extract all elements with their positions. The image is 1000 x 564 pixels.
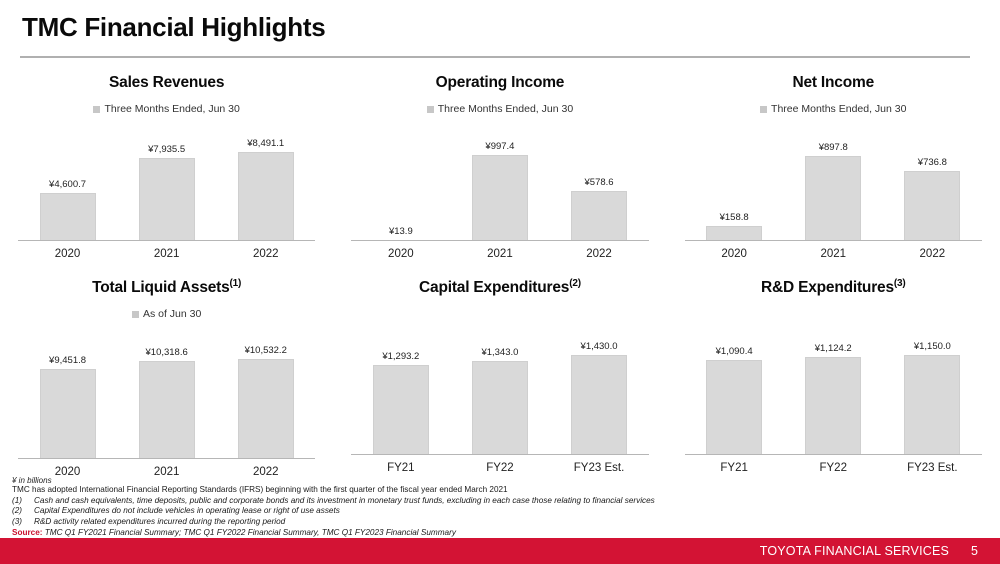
bar-group: ¥1,124.2 bbox=[789, 324, 878, 455]
bar-group: ¥997.4 bbox=[455, 123, 544, 241]
chart-title-text: Sales Revenues bbox=[109, 74, 224, 91]
chart-axis-line bbox=[685, 240, 982, 242]
chart-category-labels: FY21FY22FY23 Est. bbox=[351, 462, 648, 474]
legend-swatch-icon bbox=[760, 106, 767, 113]
legend-label: Three Months Ended, Jun 30 bbox=[771, 103, 906, 115]
footnotes: TMC has adopted International Financial … bbox=[12, 485, 972, 538]
bar bbox=[472, 361, 528, 455]
bar-group: ¥9,451.8 bbox=[23, 328, 112, 459]
footnote-2: (2)Capital Expenditures do not include v… bbox=[12, 506, 972, 517]
bar bbox=[904, 355, 960, 455]
bar bbox=[373, 365, 429, 455]
legend-swatch-icon bbox=[427, 106, 434, 113]
chart-legend-spacer bbox=[351, 297, 648, 316]
bar-group: ¥13.9 bbox=[356, 123, 445, 241]
chart-plot-sales-revenues: ¥4,600.7¥7,935.5¥8,491.1 bbox=[18, 123, 315, 241]
chart-axis-line bbox=[351, 240, 648, 242]
bar-value-label: ¥8,491.1 bbox=[247, 138, 284, 149]
bar-group: ¥7,935.5 bbox=[122, 123, 211, 241]
bar bbox=[571, 355, 627, 455]
bar-value-label: ¥736.8 bbox=[918, 157, 947, 168]
bar-group: ¥10,318.6 bbox=[122, 328, 211, 459]
chart-axis-line bbox=[351, 454, 648, 456]
bar-value-label: ¥578.6 bbox=[585, 177, 614, 188]
chart-bars: ¥9,451.8¥10,318.6¥10,532.2 bbox=[18, 328, 315, 459]
bar-value-label: ¥10,318.6 bbox=[146, 347, 188, 358]
chart-axis-line bbox=[18, 240, 315, 242]
chart-title-text: Capital Expenditures bbox=[419, 279, 569, 296]
bar bbox=[706, 360, 762, 455]
chart-row-bottom: Total Liquid Assets(1)As of Jun 30¥9,451… bbox=[0, 278, 1000, 478]
chart-legend-sales-revenues: Three Months Ended, Jun 30 bbox=[18, 103, 315, 115]
chart-plot-r-d-expenditures: ¥1,090.4¥1,124.2¥1,150.0 bbox=[685, 324, 982, 455]
source-line: Source: TMC Q1 FY2021 Financial Summary;… bbox=[12, 528, 972, 539]
page-title: TMC Financial Highlights bbox=[22, 12, 325, 43]
footer-brand: TOYOTA FINANCIAL SERVICES bbox=[760, 544, 949, 558]
bar-value-label: ¥1,090.4 bbox=[716, 346, 753, 357]
chart-title-text: Operating Income bbox=[436, 74, 565, 91]
footnote-1: (1)Cash and cash equivalents, time depos… bbox=[12, 496, 972, 507]
category-label: 2021 bbox=[122, 248, 211, 260]
bar-value-label: ¥13.9 bbox=[389, 226, 413, 237]
bar-value-label: ¥10,532.2 bbox=[245, 345, 287, 356]
chart-panel-net-income: Net IncomeThree Months Ended, Jun 30¥158… bbox=[667, 74, 1000, 278]
bar bbox=[238, 359, 294, 459]
category-label: FY23 Est. bbox=[554, 462, 643, 474]
chart-plot-total-liquid-assets: ¥9,451.8¥10,318.6¥10,532.2 bbox=[18, 328, 315, 459]
bar-group: ¥1,150.0 bbox=[888, 324, 977, 455]
bar bbox=[139, 361, 195, 459]
bar bbox=[40, 369, 96, 459]
bar-group: ¥578.6 bbox=[554, 123, 643, 241]
header-divider bbox=[20, 56, 970, 58]
legend-swatch-icon bbox=[93, 106, 100, 113]
bar-value-label: ¥997.4 bbox=[485, 141, 514, 152]
bar bbox=[805, 156, 861, 241]
chart-legend-operating-income: Three Months Ended, Jun 30 bbox=[351, 103, 648, 115]
chart-row-top: Sales RevenuesThree Months Ended, Jun 30… bbox=[0, 74, 1000, 278]
bar bbox=[238, 152, 294, 241]
bar-value-label: ¥9,451.8 bbox=[49, 355, 86, 366]
bar bbox=[40, 193, 96, 241]
chart-title-text: Net Income bbox=[792, 74, 874, 91]
bar-group: ¥897.8 bbox=[789, 123, 878, 241]
chart-legend-spacer bbox=[685, 297, 982, 316]
footnote-3-text: R&D activity related expenditures incurr… bbox=[34, 517, 285, 526]
chart-axis-line bbox=[18, 458, 315, 460]
category-label: 2021 bbox=[122, 466, 211, 478]
footnote-2-text: Capital Expenditures do not include vehi… bbox=[34, 506, 340, 515]
category-label: FY21 bbox=[356, 462, 445, 474]
chart-category-labels: 202020212022 bbox=[685, 248, 982, 260]
category-label: 2021 bbox=[455, 248, 544, 260]
legend-label: As of Jun 30 bbox=[143, 308, 201, 320]
footnote-1-marker: (1) bbox=[12, 496, 34, 507]
bar-group: ¥10,532.2 bbox=[221, 328, 310, 459]
bar-value-label: ¥897.8 bbox=[819, 142, 848, 153]
chart-category-labels: 202020212022 bbox=[18, 466, 315, 478]
category-label: 2022 bbox=[221, 248, 310, 260]
bar-group: ¥1,430.0 bbox=[554, 324, 643, 455]
footer-bar: TOYOTA FINANCIAL SERVICES 5 bbox=[0, 538, 1000, 564]
chart-axis-line bbox=[685, 454, 982, 456]
bar-group: ¥4,600.7 bbox=[23, 123, 112, 241]
footnote-1-text: Cash and cash equivalents, time deposits… bbox=[34, 496, 655, 505]
bar-value-label: ¥4,600.7 bbox=[49, 179, 86, 190]
chart-panel-sales-revenues: Sales RevenuesThree Months Ended, Jun 30… bbox=[0, 74, 333, 278]
chart-panel-capital-expenditures: Capital Expenditures(2)¥1,293.2¥1,343.0¥… bbox=[333, 278, 666, 478]
chart-plot-operating-income: ¥13.9¥997.4¥578.6 bbox=[351, 123, 648, 241]
bar-value-label: ¥1,343.0 bbox=[481, 347, 518, 358]
chart-title-footnote-marker: (3) bbox=[894, 278, 906, 289]
bar bbox=[472, 155, 528, 241]
chart-legend-total-liquid-assets: As of Jun 30 bbox=[18, 308, 315, 320]
footnote-2-marker: (2) bbox=[12, 506, 34, 517]
bar-value-label: ¥1,293.2 bbox=[382, 351, 419, 362]
category-label: 2021 bbox=[789, 248, 878, 260]
category-label: 2022 bbox=[888, 248, 977, 260]
bar-group: ¥1,293.2 bbox=[356, 324, 445, 455]
category-label: 2022 bbox=[221, 466, 310, 478]
category-label: FY21 bbox=[690, 462, 779, 474]
chart-plot-capital-expenditures: ¥1,293.2¥1,343.0¥1,430.0 bbox=[351, 324, 648, 455]
category-label: 2020 bbox=[690, 248, 779, 260]
chart-title-net-income: Net Income bbox=[685, 74, 982, 92]
chart-title-capital-expenditures: Capital Expenditures(2) bbox=[351, 278, 648, 297]
legend-label: Three Months Ended, Jun 30 bbox=[438, 103, 573, 115]
bar bbox=[805, 357, 861, 455]
chart-bars: ¥1,090.4¥1,124.2¥1,150.0 bbox=[685, 324, 982, 455]
bar-value-label: ¥1,150.0 bbox=[914, 341, 951, 352]
chart-category-labels: FY21FY22FY23 Est. bbox=[685, 462, 982, 474]
chart-title-total-liquid-assets: Total Liquid Assets(1) bbox=[18, 278, 315, 297]
bar-value-label: ¥7,935.5 bbox=[148, 144, 185, 155]
chart-title-footnote-marker: (2) bbox=[569, 278, 581, 289]
bar bbox=[571, 191, 627, 241]
bar-group: ¥1,343.0 bbox=[455, 324, 544, 455]
category-label: 2020 bbox=[23, 248, 112, 260]
chart-panel-operating-income: Operating IncomeThree Months Ended, Jun … bbox=[333, 74, 666, 278]
category-label: FY22 bbox=[789, 462, 878, 474]
category-label: FY23 Est. bbox=[888, 462, 977, 474]
chart-title-sales-revenues: Sales Revenues bbox=[18, 74, 315, 92]
chart-bars: ¥1,293.2¥1,343.0¥1,430.0 bbox=[351, 324, 648, 455]
units-note: ¥ in billions bbox=[12, 476, 52, 485]
legend-swatch-icon bbox=[132, 311, 139, 318]
bar-group: ¥158.8 bbox=[690, 123, 779, 241]
chart-title-operating-income: Operating Income bbox=[351, 74, 648, 92]
chart-bars: ¥158.8¥897.8¥736.8 bbox=[685, 123, 982, 241]
chart-title-r-d-expenditures: R&D Expenditures(3) bbox=[685, 278, 982, 297]
chart-title-text: Total Liquid Assets bbox=[92, 279, 229, 296]
chart-bars: ¥4,600.7¥7,935.5¥8,491.1 bbox=[18, 123, 315, 241]
chart-panel-total-liquid-assets: Total Liquid Assets(1)As of Jun 30¥9,451… bbox=[0, 278, 333, 478]
source-label: Source: bbox=[12, 528, 42, 537]
chart-category-labels: 202020212022 bbox=[18, 248, 315, 260]
footnote-3-marker: (3) bbox=[12, 517, 34, 528]
bar bbox=[904, 171, 960, 241]
footnote-ifrs: TMC has adopted International Financial … bbox=[12, 485, 972, 496]
chart-plot-net-income: ¥158.8¥897.8¥736.8 bbox=[685, 123, 982, 241]
chart-title-text: R&D Expenditures bbox=[761, 279, 894, 296]
bar bbox=[139, 158, 195, 241]
source-text: TMC Q1 FY2021 Financial Summary; TMC Q1 … bbox=[45, 528, 456, 537]
chart-panel-rd-expenditures: R&D Expenditures(3)¥1,090.4¥1,124.2¥1,15… bbox=[667, 278, 1000, 478]
legend-label: Three Months Ended, Jun 30 bbox=[104, 103, 239, 115]
chart-legend-net-income: Three Months Ended, Jun 30 bbox=[685, 103, 982, 115]
chart-category-labels: 202020212022 bbox=[351, 248, 648, 260]
category-label: FY22 bbox=[455, 462, 544, 474]
bar-value-label: ¥158.8 bbox=[720, 212, 749, 223]
bar-value-label: ¥1,124.2 bbox=[815, 343, 852, 354]
footer-page-number: 5 bbox=[971, 544, 978, 558]
bar-group: ¥8,491.1 bbox=[221, 123, 310, 241]
bar-group: ¥736.8 bbox=[888, 123, 977, 241]
bar-value-label: ¥1,430.0 bbox=[581, 341, 618, 352]
category-label: 2020 bbox=[356, 248, 445, 260]
bar-group: ¥1,090.4 bbox=[690, 324, 779, 455]
chart-bars: ¥13.9¥997.4¥578.6 bbox=[351, 123, 648, 241]
footnote-3: (3)R&D activity related expenditures inc… bbox=[12, 517, 972, 528]
chart-title-footnote-marker: (1) bbox=[230, 278, 242, 289]
category-label: 2022 bbox=[554, 248, 643, 260]
chart-grid: Sales RevenuesThree Months Ended, Jun 30… bbox=[0, 74, 1000, 478]
